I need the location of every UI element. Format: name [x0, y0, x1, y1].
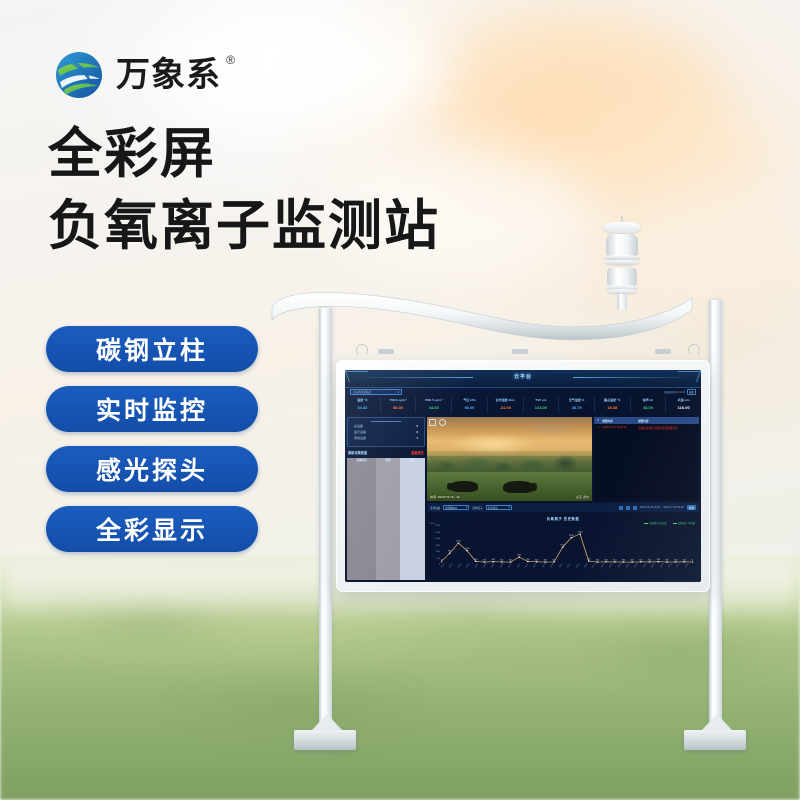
chart-data-point [475, 561, 477, 562]
legend-item: 负氧离子 平均值 [673, 521, 695, 525]
metric-card: 露点温度 ℃ 18.38 [595, 397, 631, 413]
alarm-panel[interactable]: # 报警时间 报警内容 1 2022-07-03 15:22:18 风速超过阈值… [594, 417, 699, 501]
chevron-down-icon: ▾ [398, 391, 399, 394]
chevron-down-icon: ▾ [466, 506, 467, 509]
legend-item: 负氧离子 历史值 [644, 521, 666, 525]
site-select-value: 山东省某某站点 [353, 390, 371, 394]
live-camera-feed[interactable]: 时间: 2022/7/3 16：42 山东 德州 [427, 417, 592, 501]
view-more-link[interactable]: 查看更多 [411, 450, 424, 455]
chart-point-label: 320 [441, 559, 443, 561]
data-table-title-bar: 最新采集数据 查看更多 [347, 449, 425, 456]
carbon-steel-post-right [709, 300, 722, 732]
chart-line-series [441, 534, 693, 562]
query-button[interactable]: 查询 [687, 505, 696, 510]
alarm-message: 风速超过阈值 请及时处理预警信息 [638, 426, 699, 430]
sensor-lower-body [607, 268, 637, 286]
chart-y-axis: 300025002000150010005000 [429, 525, 440, 566]
chart-view-icon[interactable] [619, 506, 623, 510]
metric-label: 噪声 db [631, 398, 666, 402]
metric-label: 气压 kPa [452, 398, 487, 402]
cabinet-hook [356, 344, 368, 356]
cabinet-mount [512, 349, 528, 354]
factor-select[interactable]: 负氧离子 ▾ [486, 505, 512, 511]
metric-label: 信号强度 dbm [488, 398, 523, 402]
display-cabinet: 云平台 山东省某某站点 ▾ 数据更新时间 16:42 刷新 温度 ℃ 34.32 [336, 360, 710, 592]
metric-card: 空气湿度 % 38.75 [559, 397, 595, 413]
chart-data-point [466, 550, 468, 551]
metric-label: 风速 m/s [666, 398, 701, 402]
table-header-row: 采集时间 类型 数值 [347, 458, 425, 580]
snapshot-icon[interactable] [439, 419, 446, 426]
chart-point-label: 1450 [560, 545, 565, 547]
chart-point-label: 680 [517, 555, 521, 557]
stat-label: 运行设备 [354, 430, 366, 434]
marketing-banner: 万象系® 全彩屏 负氧离子监测站 碳钢立柱 实时监控 感光探头 全彩显示 [0, 0, 800, 800]
stat-value: 1 [416, 436, 418, 440]
metric-value: 58.00 [381, 405, 416, 410]
update-stamp-text: 数据更新时间 16:42 [664, 390, 685, 394]
y-tick-label: 3000 [436, 525, 440, 527]
metrics-row: 温度 ℃ 34.32 PM10 ug/m³ 58.00 PM2.5 ug/m³ … [345, 397, 701, 413]
dashboard-body: 总设备 3 运行设备 2 离线设备 1 [345, 415, 701, 582]
metric-card: 信号强度 dbm -31.00 [488, 397, 524, 413]
metric-label: PM10 ug/m³ [381, 398, 416, 402]
sensor-stem [617, 294, 627, 310]
cabinet-hook [688, 344, 700, 356]
table-view-icon[interactable] [626, 506, 630, 510]
metric-card: TSP μm 143.00 [524, 397, 560, 413]
metric-label: PM2.5 ug/m³ [416, 398, 451, 402]
metric-value: 116.00 [666, 405, 701, 410]
stat-value: 2 [416, 430, 418, 434]
chart-legend: 负氧离子 历史值 负氧离子 平均值 [644, 521, 695, 525]
chart-point-label: 360 [474, 559, 478, 561]
metric-label: 露点温度 ℃ [595, 398, 630, 402]
metric-card: PM10 ug/m³ 58.00 [381, 397, 417, 413]
metric-value: -31.00 [488, 405, 523, 410]
post-gusset [702, 714, 732, 730]
column-header: 报警时间 [602, 417, 638, 424]
metric-value: 48.00 [631, 405, 666, 410]
metric-label: 空气湿度 % [559, 398, 594, 402]
site-select[interactable]: 山东省某某站点 ▾ [350, 389, 402, 395]
y-tick-label: 1000 [436, 551, 440, 553]
update-stamp: 数据更新时间 16:42 刷新 [664, 389, 696, 395]
device-stats-box: 总设备 3 运行设备 2 离线设备 1 [347, 417, 425, 447]
sensor-ring [604, 260, 640, 265]
metric-card: 气压 kPa 98.00 [452, 397, 488, 413]
left-panel: 总设备 3 运行设备 2 离线设备 1 [347, 417, 425, 580]
column-header: 报警内容 [638, 417, 699, 424]
video-timestamp: 时间: 2022/7/3 16：42 [430, 495, 460, 499]
metric-value: 38.75 [559, 405, 594, 410]
metric-card: 温度 ℃ 34.32 [345, 397, 381, 413]
dashboard-screen: 云平台 山东省某某站点 ▾ 数据更新时间 16:42 刷新 温度 ℃ 34.32 [345, 370, 701, 582]
history-chart-card: 负氧离子 历史数据 负氧离子 历史值 负氧离子 平均值 个/cm³ 300025… [427, 514, 699, 580]
post-gusset [312, 714, 342, 730]
alarm-header-row: # 报警时间 报警内容 [594, 417, 699, 424]
date-to[interactable]: 2022-07-03 00:00 [663, 506, 683, 509]
main-panel: 时间: 2022/7/3 16：42 山东 德州 # 报警时间 报警内容 [427, 417, 699, 580]
refresh-button[interactable]: 刷新 [687, 389, 696, 395]
stat-value: 3 [416, 424, 418, 428]
stat-label: 离线设备 [354, 436, 366, 440]
sensor-upper-body [606, 234, 638, 256]
cabinet-mount [378, 349, 394, 354]
carbon-steel-post-left [319, 308, 332, 732]
metric-card: 噪声 db 48.00 [631, 397, 667, 413]
chart-data-point [458, 542, 460, 543]
chart-title: 负氧离子 历史数据 [427, 514, 699, 521]
device-select-value: 监测站001 [445, 506, 457, 510]
chart-point-label: 980 [448, 551, 452, 553]
dashboard-title: 云平台 [345, 373, 701, 380]
fullscreen-icon[interactable] [429, 419, 436, 426]
device-select[interactable]: 监测站001 ▾ [443, 505, 469, 511]
chart-point-label: 1180 [465, 548, 470, 550]
ultrasonic-weather-sensor [596, 222, 648, 308]
divider [371, 421, 401, 422]
chart-point-label: 1760 [456, 541, 461, 543]
y-tick-label: 2500 [436, 532, 440, 534]
stat-row: 离线设备 1 [354, 436, 418, 440]
metric-value: 34.32 [345, 405, 380, 410]
alarm-time: 2022-07-03 15:22:18 [602, 426, 638, 430]
metric-value: 44.00 [416, 405, 451, 410]
data-table-title: 最新采集数据 [348, 450, 367, 455]
chart-data-point [570, 537, 572, 538]
column-header: 类型 [376, 458, 400, 580]
column-header: 采集时间 [347, 458, 376, 580]
factor-select-value: 负氧离子 [488, 506, 498, 510]
post-base-plate-right [684, 730, 746, 750]
monitoring-station-product: 云平台 山东省某某站点 ▾ 数据更新时间 16:42 刷新 温度 ℃ 34.32 [0, 0, 800, 800]
cattle-silhouette [450, 481, 478, 492]
calendar-icon[interactable] [633, 506, 637, 510]
video-watermark: 山东 德州 [576, 495, 589, 499]
y-tick-label: 500 [437, 558, 440, 560]
chart-control-bar: 选择设备 监测站001 ▾ 选择因子 负氧离子 ▾ [427, 503, 699, 512]
date-from[interactable]: 2022-06-03 00:00 [640, 506, 660, 509]
chart-point-label: 2180 [569, 535, 574, 537]
device-select-label: 选择设备 [430, 506, 440, 510]
metric-card: PM2.5 ug/m³ 44.00 [416, 397, 452, 413]
alarm-index: 1 [594, 426, 602, 430]
y-tick-label: 1500 [436, 545, 440, 547]
factor-select-label: 选择因子 [472, 506, 482, 510]
chart-x-axis: 06-0306-0406-0506-0606-0706-0806-0906-10… [441, 567, 693, 579]
dashboard-header: 云平台 [345, 370, 701, 388]
metric-label: 温度 ℃ [345, 398, 380, 402]
y-tick-label: 0 [439, 564, 440, 566]
metric-label: TSP μm [524, 398, 559, 402]
cabinet-mount [655, 349, 671, 354]
sensor-cap [603, 222, 641, 233]
metric-value: 18.38 [595, 405, 630, 410]
y-tick-label: 2000 [436, 538, 440, 540]
chart-data-point [518, 556, 520, 557]
metric-card: 风速 m/s 116.00 [666, 397, 701, 413]
stat-row: 运行设备 2 [354, 430, 418, 434]
stat-label: 总设备 [354, 424, 363, 428]
stat-row: 总设备 3 [354, 424, 418, 428]
video-and-alarm-row: 时间: 2022/7/3 16：42 山东 德州 # 报警时间 报警内容 [427, 417, 699, 501]
column-header: # [594, 417, 602, 424]
chevron-down-icon: ▾ [508, 506, 509, 509]
alarm-row[interactable]: 1 2022-07-03 15:22:18 风速超过阈值 请及时处理预警信息 [594, 424, 699, 431]
chart-data-point [562, 546, 564, 547]
video-controls[interactable] [429, 419, 446, 426]
metric-value: 98.00 [452, 405, 487, 410]
post-base-plate-left [294, 730, 356, 750]
chart-data-point [579, 533, 581, 534]
chart-data-point [449, 553, 451, 554]
latest-data-table[interactable]: 采集时间 类型 数值 2022-06-28 08:10:19温度33.87202… [347, 458, 425, 580]
chart-point-label: 2460 [578, 532, 583, 534]
metric-value: 143.00 [524, 405, 559, 410]
cattle-silhouette [503, 481, 534, 494]
column-header: 数值 [400, 458, 425, 580]
